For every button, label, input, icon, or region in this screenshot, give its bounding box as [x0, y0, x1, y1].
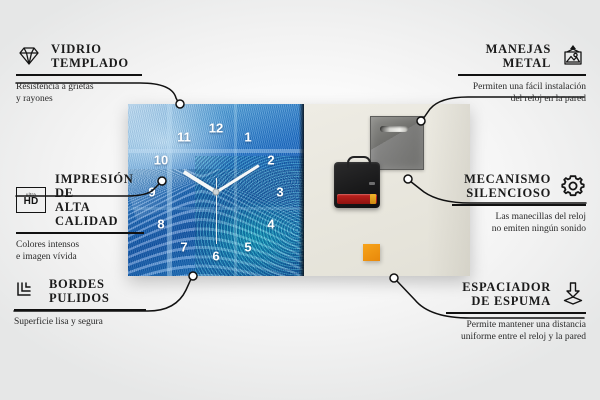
clock-numeral-8: 8 — [157, 218, 164, 231]
battery — [337, 194, 377, 204]
clock-numeral-10: 10 — [154, 154, 168, 167]
feature-description: Resistencia a grietas y rayones — [16, 81, 142, 106]
feature-callout-manejas-metal: MANEJAS METAL Permiten una fácil instala… — [458, 42, 586, 105]
feature-title: VIDRIO TEMPLADO — [51, 42, 129, 70]
picture-frame-hanger-icon — [560, 43, 586, 69]
feature-title: BORDES PULIDOS — [49, 277, 109, 305]
feature-title: MANEJAS METAL — [486, 42, 551, 70]
quartz-movement — [334, 162, 380, 208]
feature-divider — [452, 204, 586, 206]
clock-numeral-1: 1 — [244, 131, 251, 144]
feature-divider — [458, 74, 586, 76]
gear-icon — [560, 173, 586, 199]
feature-title: MECANISMO SILENCIOSO — [464, 172, 551, 200]
clock-numeral-2: 2 — [267, 154, 274, 167]
feature-callout-espaciador-espuma: ESPACIADOR DE ESPUMA Permite mantener un… — [446, 280, 586, 343]
feature-header: MECANISMO SILENCIOSO — [452, 172, 586, 200]
foam-spacer — [363, 244, 380, 261]
clock-numeral-12: 12 — [209, 122, 223, 135]
infographic-canvas: 12 1 2 3 4 5 6 7 8 9 10 11 — [0, 0, 600, 400]
clock-numeral-4: 4 — [267, 218, 274, 231]
movement-label-mark — [369, 182, 375, 185]
feature-header: MANEJAS METAL — [458, 42, 586, 70]
feature-description: Superficie lisa y segura — [14, 316, 146, 328]
feature-description: Colores intensos e imagen vívida — [16, 239, 144, 264]
ultra-hd-icon: ultra HD — [16, 187, 46, 213]
clock-numeral-7: 7 — [180, 241, 187, 254]
diamond-icon — [16, 43, 42, 69]
clock-back-panel — [304, 104, 470, 276]
clock-numeral-11: 11 — [177, 131, 191, 144]
hanger-keyhole-slot — [380, 126, 408, 132]
feature-divider — [16, 74, 142, 76]
feature-header: ultra HD IMPRESIÓN DE ALTA CALIDAD — [16, 172, 144, 228]
feature-title: IMPRESIÓN DE ALTA CALIDAD — [55, 172, 144, 228]
feature-header: ESPACIADOR DE ESPUMA — [446, 280, 586, 308]
feature-description: Permite mantener una distancia uniforme … — [446, 319, 586, 344]
feature-callout-mecanismo-silencioso: MECANISMO SILENCIOSO Las manecillas del … — [452, 172, 586, 235]
clock-numeral-3: 3 — [276, 186, 283, 199]
polished-edges-icon — [14, 278, 40, 304]
clock-hands-cap — [213, 189, 220, 196]
feature-description: Permiten una fácil instalación del reloj… — [458, 81, 586, 106]
ultra-hd-icon-main-text: HD — [24, 197, 39, 207]
feature-callout-vidrio-templado: VIDRIO TEMPLADO Resistencia a grietas y … — [16, 42, 142, 105]
feature-description: Las manecillas del reloj no emiten ningú… — [452, 211, 586, 236]
product-photo: 12 1 2 3 4 5 6 7 8 9 10 11 — [128, 104, 470, 276]
feature-header: VIDRIO TEMPLADO — [16, 42, 142, 70]
arrow-down-layers-icon — [560, 281, 586, 307]
clock-numeral-6: 6 — [212, 250, 219, 263]
feature-divider — [16, 232, 144, 234]
feature-callout-bordes-pulidos: BORDES PULIDOS Superficie lisa y segura — [14, 277, 146, 328]
feature-header: BORDES PULIDOS — [14, 277, 146, 305]
clock-face-panel: 12 1 2 3 4 5 6 7 8 9 10 11 — [128, 104, 304, 276]
clock-numeral-9: 9 — [148, 186, 155, 199]
feature-callout-impresion-alta-calidad: ultra HD IMPRESIÓN DE ALTA CALIDAD Color… — [16, 172, 144, 263]
feature-title: ESPACIADOR DE ESPUMA — [462, 280, 551, 308]
movement-hanging-loop — [347, 156, 371, 168]
pattern-band-vertical-2 — [234, 104, 237, 276]
clock-numeral-5: 5 — [244, 241, 251, 254]
feature-divider — [14, 309, 146, 311]
feature-divider — [446, 312, 586, 314]
